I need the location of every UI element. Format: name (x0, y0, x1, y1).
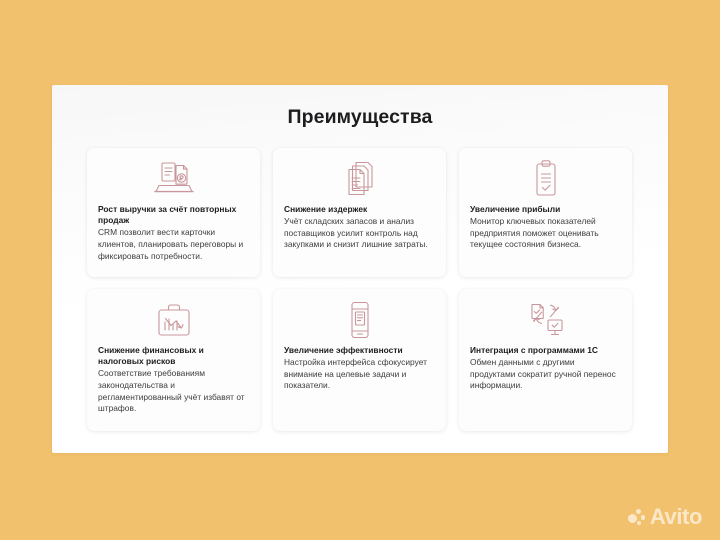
advantage-card-body: Увеличение эффективности Настройка интер… (273, 345, 446, 392)
advantages-card-grid: Рост выручки за счёт повторных продаж CR… (87, 148, 633, 431)
briefcase-declining-chart-icon (87, 297, 260, 343)
advantage-card-body: Снижение издержек Учёт складских запасов… (273, 204, 446, 251)
advantage-card-title: Снижение финансовых и налоговых рисков (98, 345, 249, 368)
advantage-card-title: Увеличение прибыли (470, 204, 621, 215)
smartphone-form-icon (273, 297, 446, 343)
advantage-card[interactable]: Снижение финансовых и налоговых рисков С… (87, 289, 260, 431)
screenshot-root: Преимущества Рос (0, 0, 720, 540)
advantage-card-description: Учёт складских запасов и анализ поставщи… (284, 216, 435, 251)
advantage-card-body: Рост выручки за счёт повторных продаж CR… (87, 204, 260, 262)
advantage-card[interactable]: Увеличение эффективности Настройка интер… (273, 289, 446, 431)
sync-document-monitor-icon (459, 297, 632, 343)
avito-watermark: Avito (628, 506, 702, 528)
advantage-card[interactable]: Рост выручки за счёт повторных продаж CR… (87, 148, 260, 277)
advantages-panel: Преимущества Рос (52, 85, 668, 453)
avito-dots-logo-icon (628, 508, 646, 526)
stacked-documents-icon (273, 156, 446, 202)
avito-watermark-label: Avito (650, 506, 702, 528)
advantage-card-title: Рост выручки за счёт повторных продаж (98, 204, 249, 227)
advantage-card-description: Обмен данными с другими продуктами сокра… (470, 357, 621, 392)
advantage-card-body: Увеличение прибыли Монитор ключевых пока… (459, 204, 632, 251)
page-title: Преимущества (52, 106, 668, 129)
advantage-card-body: Интеграция с программами 1С Обмен данным… (459, 345, 632, 392)
advantage-card-title: Интеграция с программами 1С (470, 345, 621, 356)
advantage-card-description: CRM позволит вести карточки клиентов, пл… (98, 227, 249, 262)
laptop-document-ruble-icon (87, 156, 260, 202)
clipboard-check-icon (459, 156, 632, 202)
advantage-card-body: Снижение финансовых и налоговых рисков С… (87, 345, 260, 415)
advantage-card-description: Настройка интерфейса сфокусирует внимани… (284, 357, 435, 392)
advantage-card[interactable]: Увеличение прибыли Монитор ключевых пока… (459, 148, 632, 277)
advantage-card[interactable]: Снижение издержек Учёт складских запасов… (273, 148, 446, 277)
advantage-card[interactable]: Интеграция с программами 1С Обмен данным… (459, 289, 632, 431)
advantage-card-title: Увеличение эффективности (284, 345, 435, 356)
advantage-card-description: Монитор ключевых показателей предприятия… (470, 216, 621, 251)
advantage-card-description: Соответствие требованиям законодательств… (98, 368, 249, 414)
advantage-card-title: Снижение издержек (284, 204, 435, 215)
